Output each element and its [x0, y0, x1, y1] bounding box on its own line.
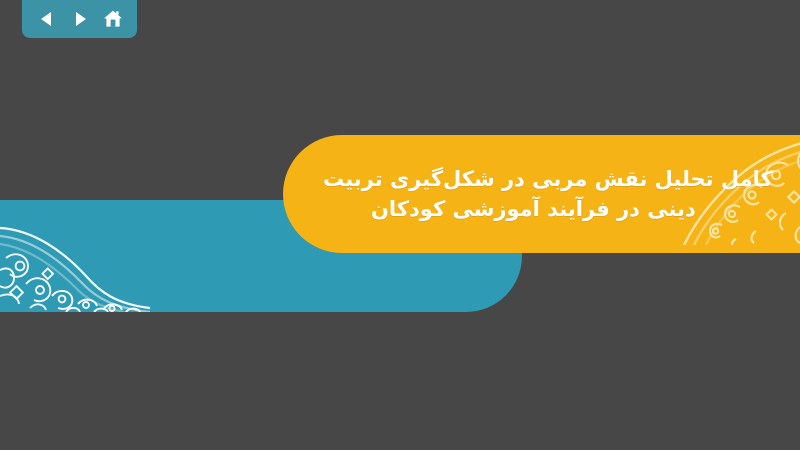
arabesque-corner-ornament-teal [0, 200, 150, 312]
title-banner: کامل تحلیل نقش مربی در شکل‌گیری تربیت دی… [283, 135, 800, 253]
triangle-left-icon [37, 9, 57, 29]
back-button[interactable] [34, 6, 60, 32]
forward-button[interactable] [67, 6, 93, 32]
title-line-2: دینی در فرآیند آموزشی کودکان [323, 194, 696, 224]
home-button[interactable] [100, 6, 126, 32]
navigation-bar [22, 0, 137, 38]
title-line-1: کامل تحلیل نقش مربی در شکل‌گیری تربیت [323, 164, 773, 194]
triangle-right-icon [70, 9, 90, 29]
slide-title: کامل تحلیل نقش مربی در شکل‌گیری تربیت دی… [323, 135, 800, 253]
home-icon [102, 8, 124, 30]
slide-canvas: کامل تحلیل نقش مربی در شکل‌گیری تربیت دی… [0, 0, 800, 450]
